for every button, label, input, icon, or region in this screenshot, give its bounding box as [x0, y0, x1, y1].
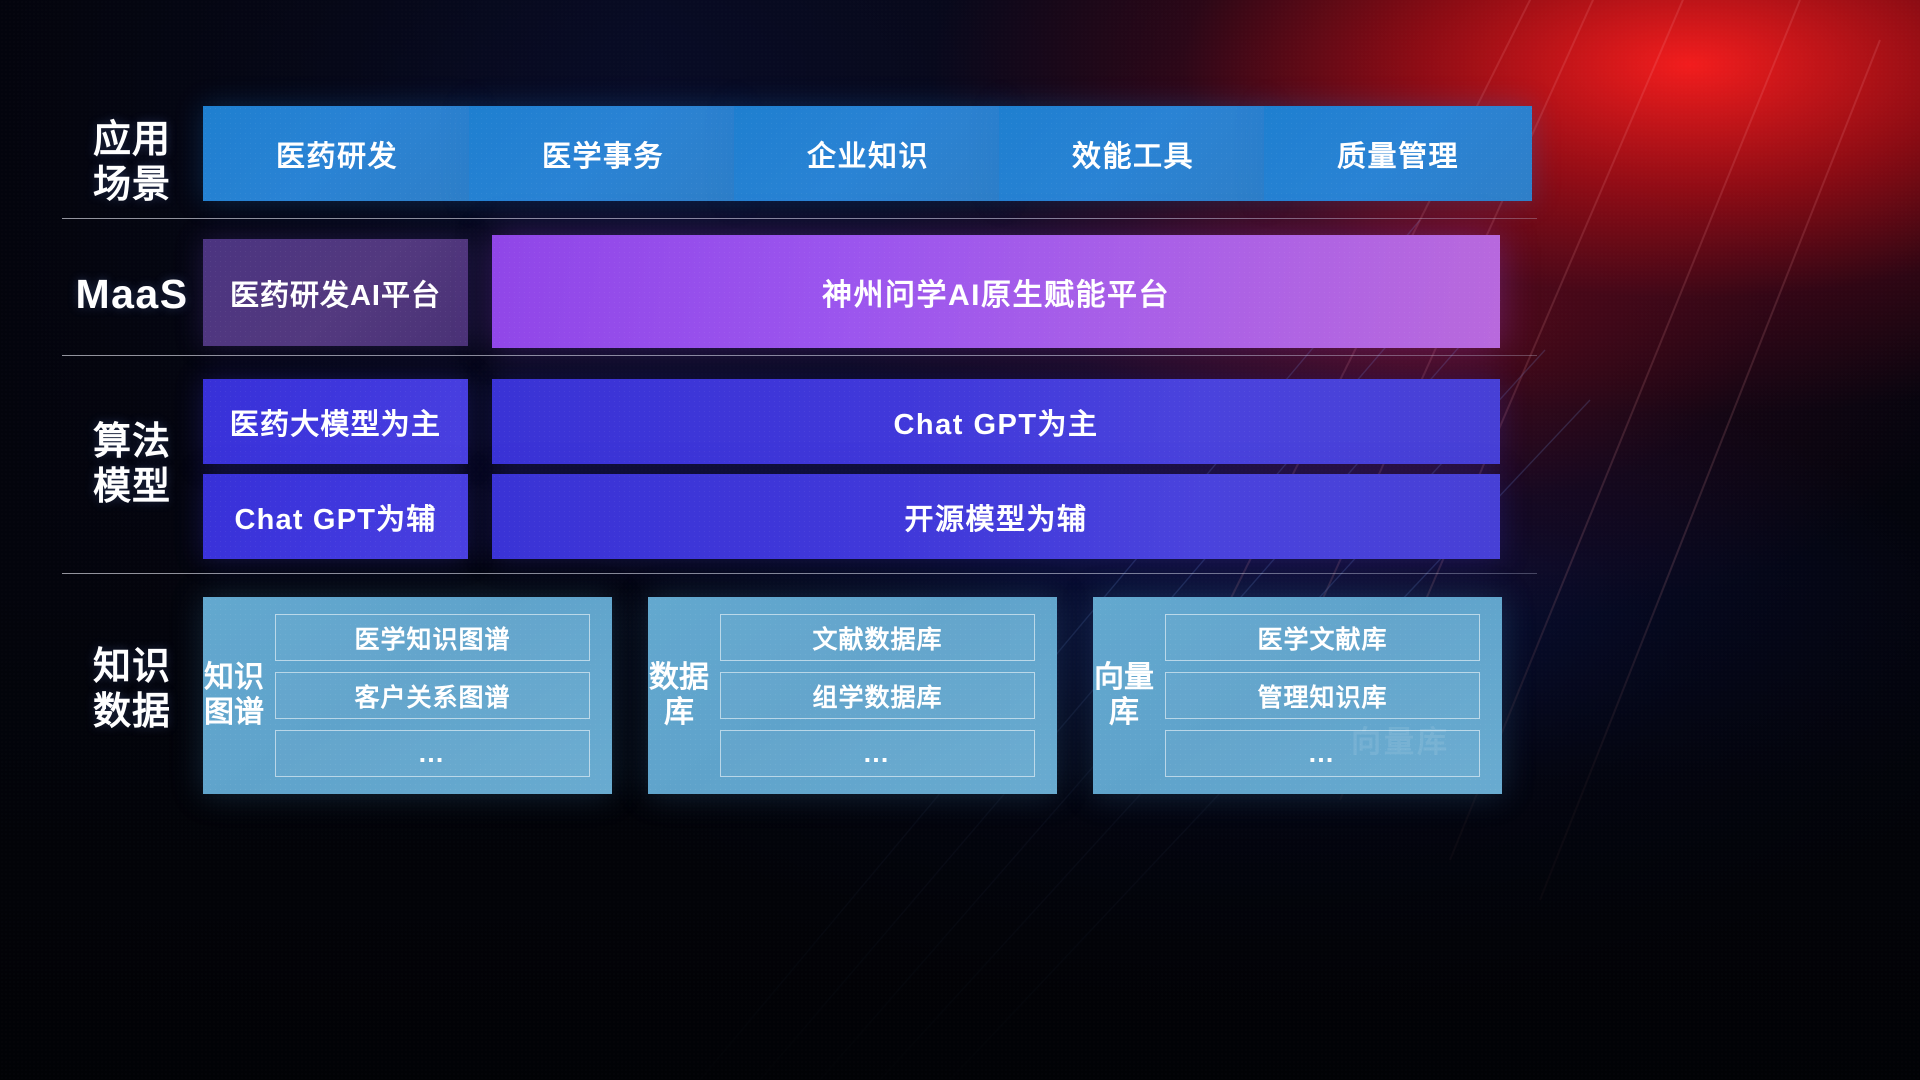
knowledge-group-1[interactable]: 数据库 文献数据库 组学数据库 … — [648, 597, 1057, 794]
knowledge-group-1-items: 文献数据库 组学数据库 … — [710, 614, 1057, 777]
knowledge-group-0-item-1[interactable]: 客户关系图谱 — [275, 672, 590, 719]
app-box-0-label: 医药研发 — [276, 133, 398, 175]
knowledge-group-1-item-0[interactable]: 文献数据库 — [720, 614, 1035, 661]
knowledge-group-2-item-0[interactable]: 医学文献库 — [1165, 614, 1480, 661]
algo-box-chatgpt-primary-label: Chat GPT为主 — [893, 401, 1098, 443]
algo-box-chatgpt-secondary-label: Chat GPT为辅 — [234, 496, 436, 538]
row-label-knowledge-line1: 知识 — [62, 645, 202, 690]
knowledge-group-1-item-2-label: … — [863, 738, 893, 769]
knowledge-group-1-item-0-label: 文献数据库 — [812, 620, 942, 656]
row-label-algorithm-line1: 算法 — [62, 420, 202, 465]
row-label-application-line1: 应用 — [62, 118, 202, 163]
divider-algorithm-knowledge — [62, 573, 1537, 574]
maas-box-shenzhou-platform[interactable]: 神州问学AI原生赋能平台 — [492, 235, 1500, 348]
algo-box-opensource-secondary[interactable]: 开源模型为辅 — [492, 474, 1500, 559]
app-box-2[interactable]: 企业知识 — [734, 106, 1002, 201]
app-box-4-label: 质量管理 — [1337, 133, 1459, 175]
knowledge-group-2-item-2-label: … — [1308, 738, 1338, 769]
divider-maas-algorithm — [62, 355, 1537, 356]
row-label-application: 应用 场景 — [62, 118, 202, 208]
knowledge-group-0-item-0[interactable]: 医学知识图谱 — [275, 614, 590, 661]
app-box-3-label: 效能工具 — [1072, 133, 1194, 175]
app-box-2-label: 企业知识 — [807, 133, 929, 175]
knowledge-group-0-item-1-label: 客户关系图谱 — [354, 678, 510, 714]
row-label-maas: MaaS — [62, 270, 202, 318]
diagram-content: 应用 场景 医药研发 医学事务 企业知识 效能工具 质量管理 MaaS 医药研发… — [0, 0, 1920, 1080]
knowledge-group-0-item-2-label: … — [418, 738, 448, 769]
maas-box-medical-ai-platform-label: 医药研发AI平台 — [230, 272, 441, 314]
knowledge-group-2[interactable]: 向量库 医学文献库 管理知识库 … 向量库 — [1093, 597, 1502, 794]
app-box-3[interactable]: 效能工具 — [999, 106, 1267, 201]
row-label-algorithm: 算法 模型 — [62, 420, 202, 510]
app-box-1-label: 医学事务 — [542, 133, 664, 175]
algo-box-opensource-secondary-label: 开源模型为辅 — [904, 496, 1087, 538]
knowledge-group-2-item-1[interactable]: 管理知识库 — [1165, 672, 1480, 719]
divider-application-maas — [62, 218, 1537, 219]
row-label-knowledge-line2: 数据 — [62, 690, 202, 735]
knowledge-group-0-item-2[interactable]: … — [275, 730, 590, 777]
maas-box-medical-ai-platform[interactable]: 医药研发AI平台 — [203, 239, 468, 346]
knowledge-group-1-label: 数据库 — [648, 661, 710, 729]
knowledge-group-1-item-2[interactable]: … — [720, 730, 1035, 777]
knowledge-group-2-items: 医学文献库 管理知识库 … — [1155, 614, 1502, 777]
maas-box-shenzhou-platform-label: 神州问学AI原生赋能平台 — [822, 270, 1170, 314]
architecture-diagram: 应用 场景 医药研发 医学事务 企业知识 效能工具 质量管理 MaaS 医药研发… — [0, 0, 1920, 1080]
knowledge-group-2-label: 向量库 — [1093, 661, 1155, 729]
row-label-maas-text: MaaS — [62, 270, 202, 318]
app-box-1[interactable]: 医学事务 — [469, 106, 737, 201]
knowledge-group-1-item-1-label: 组学数据库 — [812, 678, 942, 714]
knowledge-group-0-item-0-label: 医学知识图谱 — [354, 620, 510, 656]
knowledge-group-2-item-1-label: 管理知识库 — [1257, 678, 1387, 714]
knowledge-group-0-label: 知识图谱 — [203, 661, 265, 729]
row-label-algorithm-line2: 模型 — [62, 465, 202, 510]
knowledge-group-0[interactable]: 知识图谱 医学知识图谱 客户关系图谱 … — [203, 597, 612, 794]
algo-box-chatgpt-secondary[interactable]: Chat GPT为辅 — [203, 474, 468, 559]
row-label-knowledge: 知识 数据 — [62, 645, 202, 735]
row-label-application-line2: 场景 — [62, 163, 202, 208]
knowledge-group-1-item-1[interactable]: 组学数据库 — [720, 672, 1035, 719]
app-box-0[interactable]: 医药研发 — [203, 106, 471, 201]
app-box-4[interactable]: 质量管理 — [1264, 106, 1532, 201]
knowledge-group-0-items: 医学知识图谱 客户关系图谱 … — [265, 614, 612, 777]
knowledge-group-2-item-2[interactable]: … — [1165, 730, 1480, 777]
knowledge-group-2-item-0-label: 医学文献库 — [1257, 620, 1387, 656]
algo-box-chatgpt-primary[interactable]: Chat GPT为主 — [492, 379, 1500, 464]
algo-box-medical-model-primary[interactable]: 医药大模型为主 — [203, 379, 468, 464]
algo-box-medical-model-primary-label: 医药大模型为主 — [230, 401, 441, 443]
